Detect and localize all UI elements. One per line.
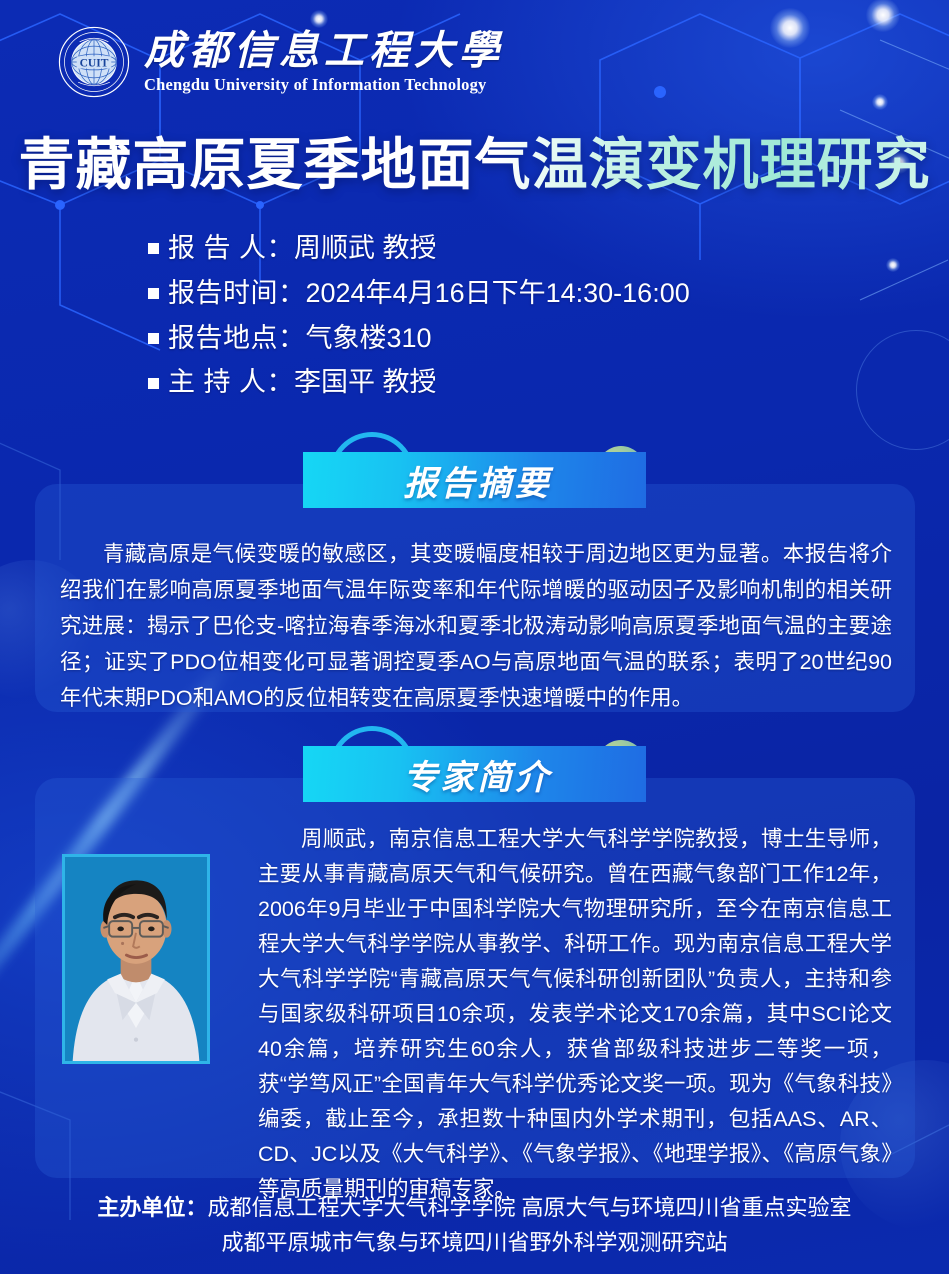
info-value: 周顺武 教授	[294, 232, 437, 266]
info-row-host: 主 持 人： 李国平 教授	[148, 366, 690, 400]
square-bullet-icon	[148, 333, 159, 344]
brand-name-cn: 成都信息工程大學	[144, 30, 504, 72]
footer-organizer-line2: 成都平原城市气象与环境四川省野外科学观测研究站	[0, 1225, 949, 1260]
footer-organizer-line1: 成都信息工程大学大气科学学院 高原大气与环境四川省重点实验室	[207, 1195, 851, 1220]
abstract-heading-bar: 报告摘要	[303, 452, 646, 508]
square-bullet-icon	[148, 288, 159, 299]
square-bullet-icon	[148, 378, 159, 389]
footer-organizer-row: 主办单位：成都信息工程大学大气科学学院 高原大气与环境四川省重点实验室	[0, 1190, 949, 1225]
expert-heading: 专家简介	[398, 750, 552, 799]
event-info-list: 报 告 人： 周顺武 教授 报告时间： 2024年4月16日下午14:30-16…	[148, 232, 690, 400]
info-row-speaker: 报 告 人： 周顺武 教授	[148, 232, 690, 266]
info-value: 李国平 教授	[294, 366, 437, 400]
abstract-section-header: 报告摘要	[0, 452, 949, 514]
poster-root: CUIT 成都信息工程大學 Chengdu University of Info…	[0, 0, 949, 1274]
cuit-logo-icon: CUIT	[58, 26, 130, 98]
expert-section-header: 专家简介	[0, 746, 949, 808]
footer: 主办单位：成都信息工程大学大气科学学院 高原大气与环境四川省重点实验室 成都平原…	[0, 1190, 949, 1260]
glow-dot	[770, 8, 810, 48]
info-label: 报 告 人：	[168, 232, 294, 266]
info-value: 2024年4月16日下午14:30-16:00	[306, 277, 690, 311]
university-brand: CUIT 成都信息工程大學 Chengdu University of Info…	[58, 26, 504, 98]
info-row-time: 报告时间： 2024年4月16日下午14:30-16:00	[148, 277, 690, 311]
outline-circle-decoration	[856, 330, 949, 450]
info-value: 气象楼310	[306, 322, 432, 356]
info-label: 报告地点：	[168, 322, 306, 356]
expert-heading-bar: 专家简介	[303, 746, 646, 802]
svg-text:CUIT: CUIT	[80, 57, 109, 69]
page-title: 青藏高原夏季地面气温演变机理研究	[0, 134, 949, 196]
glow-dot	[872, 94, 888, 110]
brand-name-en: Chengdu University of Information Techno…	[144, 75, 504, 95]
glow-dot	[866, 0, 900, 32]
expert-bio-body: 周顺武，南京信息工程大学大气科学学院教授，博士生导师，主要从事青藏高原天气和气候…	[258, 822, 892, 1207]
info-row-location: 报告地点： 气象楼310	[148, 322, 690, 356]
glow-dot	[886, 258, 900, 272]
abstract-body: 青藏高原是气候变暖的敏感区，其变暖幅度相较于周边地区更为显著。本报告将介绍我们在…	[60, 536, 892, 716]
square-bullet-icon	[148, 243, 159, 254]
info-label: 主 持 人：	[168, 366, 294, 400]
info-label: 报告时间：	[168, 277, 306, 311]
footer-organizer-label: 主办单位：	[97, 1195, 207, 1220]
speaker-portrait	[62, 854, 210, 1064]
abstract-heading: 报告摘要	[398, 456, 552, 505]
